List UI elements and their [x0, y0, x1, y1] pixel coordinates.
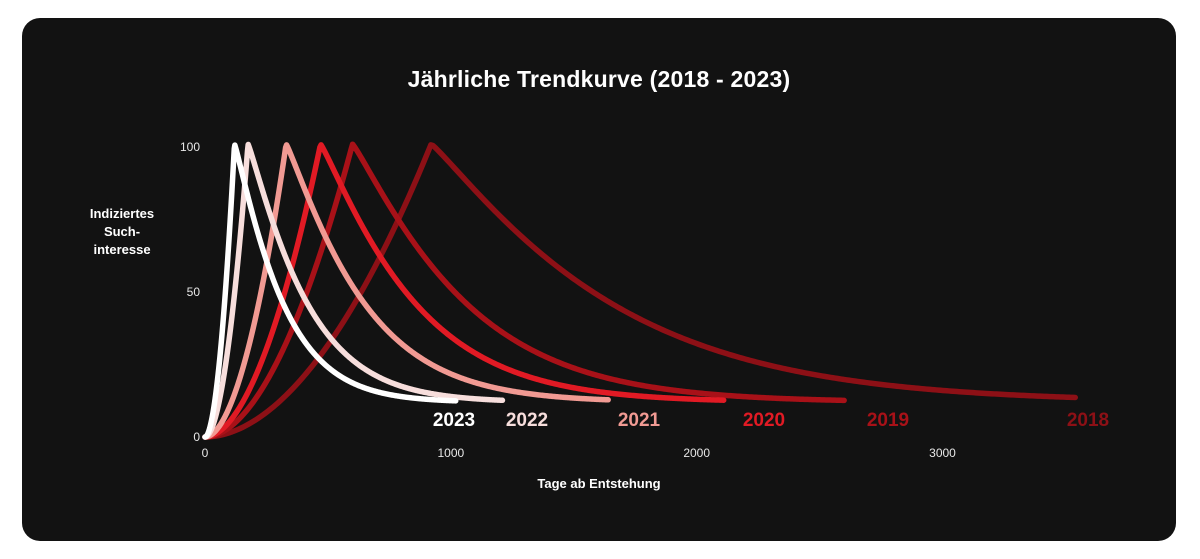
series-label-2018[interactable]: 2018: [1067, 410, 1109, 431]
y-tick-label: 0: [193, 430, 200, 444]
plot-area: 050100 0100020003000 2023202220212020201…: [22, 18, 1176, 541]
y-axis-title: IndiziertesSuch-interesse: [90, 206, 154, 257]
screenshot-root: Jährliche Trendkurve (2018 - 2023) 05010…: [0, 0, 1200, 559]
x-tick-label: 3000: [929, 446, 956, 460]
series-label-2022[interactable]: 2022: [506, 410, 548, 431]
series-label-2023[interactable]: 2023: [433, 410, 475, 431]
x-axis-ticks: 0100020003000: [202, 446, 957, 460]
y-axis-title-line: Such-: [104, 224, 140, 239]
curves-group: [205, 144, 1075, 437]
x-tick-label: 0: [202, 446, 209, 460]
trend-curve-2020[interactable]: [205, 145, 724, 437]
x-tick-label: 1000: [437, 446, 464, 460]
series-labels: 202320222021202020192018: [433, 410, 1109, 431]
y-tick-label: 100: [180, 140, 200, 154]
y-axis-title-line: interesse: [93, 242, 150, 257]
chart-card: Jährliche Trendkurve (2018 - 2023) 05010…: [22, 18, 1176, 541]
trend-curve-svg: 050100 0100020003000 2023202220212020201…: [22, 18, 1176, 541]
x-axis-title-text: Tage ab Entstehung: [537, 476, 660, 491]
series-label-2019[interactable]: 2019: [867, 410, 909, 431]
y-tick-label: 50: [187, 285, 201, 299]
y-axis-ticks: 050100: [180, 140, 200, 444]
series-label-2020[interactable]: 2020: [743, 410, 785, 431]
trend-curve-2018[interactable]: [205, 145, 1075, 437]
x-tick-label: 2000: [683, 446, 710, 460]
y-axis-title-line: Indiziertes: [90, 206, 154, 221]
series-label-2021[interactable]: 2021: [618, 410, 661, 431]
